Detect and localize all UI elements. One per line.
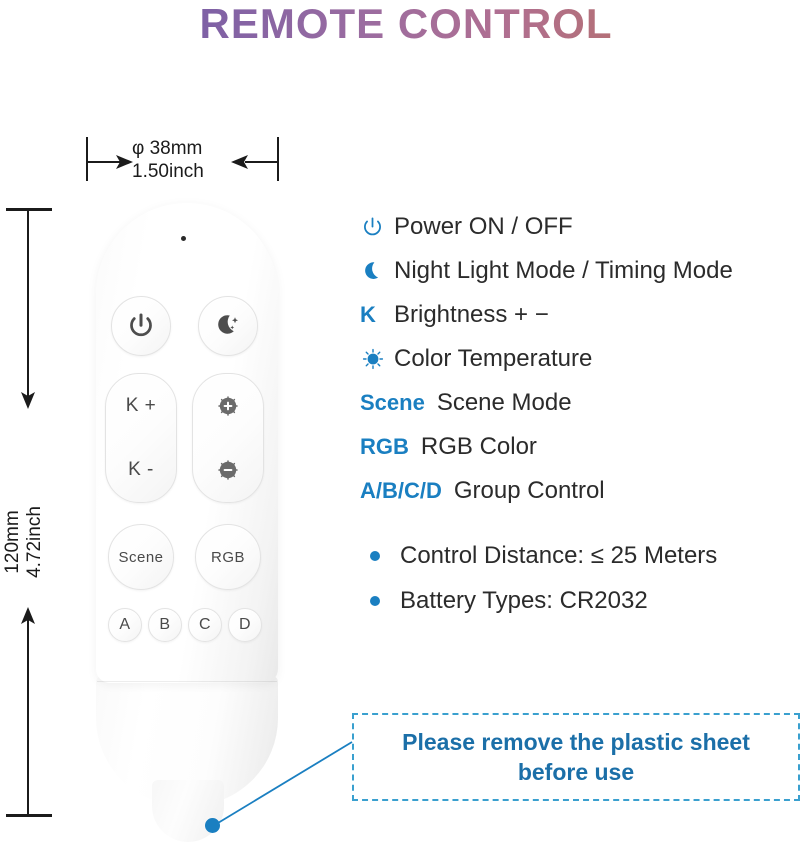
legend-label-group-control: Group Control bbox=[454, 477, 605, 505]
callout-leader-dot bbox=[205, 818, 220, 833]
remote-group-d-button[interactable]: D bbox=[228, 608, 262, 642]
remote-color-temp-plus-button[interactable] bbox=[193, 374, 263, 438]
remote-group-a-button[interactable]: A bbox=[108, 608, 142, 642]
brightness-minus-icon bbox=[208, 450, 248, 490]
legend-item-rgb: RGB RGB Color bbox=[360, 425, 812, 469]
remote-group-c-button[interactable]: C bbox=[188, 608, 222, 642]
bullet-dot-icon bbox=[370, 551, 380, 561]
legend-key-k-label: K bbox=[360, 302, 376, 328]
legend-item-power: Power ON / OFF bbox=[360, 205, 812, 249]
remote-power-button[interactable] bbox=[111, 296, 171, 356]
remote-control-device: K + K - Scene RGB A bbox=[0, 0, 330, 850]
legend-key-scene: Scene bbox=[360, 390, 425, 416]
remote-group-c-label: C bbox=[199, 616, 211, 634]
legend-item-group-control: A/B/C/D Group Control bbox=[360, 469, 812, 513]
remote-k-minus-button[interactable]: K - bbox=[106, 438, 176, 502]
remote-k-minus-label: K - bbox=[128, 459, 154, 481]
remote-scene-button[interactable]: Scene bbox=[108, 524, 174, 590]
spec-item-control-distance: Control Distance: ≤ 25 Meters bbox=[360, 533, 812, 578]
legend-item-color-temperature: Color Temperature bbox=[360, 337, 812, 381]
remote-seam-line bbox=[97, 681, 277, 682]
remote-scene-label: Scene bbox=[118, 549, 163, 566]
remote-group-b-button[interactable]: B bbox=[148, 608, 182, 642]
bullet-dot-icon bbox=[370, 596, 380, 606]
legend-key-rgb: RGB bbox=[360, 434, 409, 460]
legend-list: Power ON / OFF Night Light Mode / Timing… bbox=[360, 205, 812, 623]
legend-label-brightness: Brightness + − bbox=[394, 301, 549, 329]
legend-label-power: Power ON / OFF bbox=[394, 213, 573, 241]
legend-label-scene: Scene Mode bbox=[437, 389, 572, 417]
remote-group-a-label: A bbox=[119, 616, 130, 634]
moon-icon bbox=[360, 259, 394, 284]
remote-k-plus-button[interactable]: K + bbox=[106, 374, 176, 438]
remote-rgb-button[interactable]: RGB bbox=[195, 524, 261, 590]
remote-color-temp-minus-button[interactable] bbox=[193, 438, 263, 502]
remote-k-plus-label: K + bbox=[126, 395, 157, 417]
callout-text: Please remove the plastic sheet before u… bbox=[354, 727, 798, 787]
spec-item-battery-type: Battery Types: CR2032 bbox=[360, 578, 812, 623]
sun-icon bbox=[360, 346, 394, 372]
legend-key-group: A/B/C/D bbox=[360, 478, 442, 504]
legend-key-k: K bbox=[360, 302, 394, 328]
power-icon bbox=[126, 311, 156, 341]
led-indicator bbox=[181, 236, 186, 241]
legend-item-scene: Scene Scene Mode bbox=[360, 381, 812, 425]
spec-label-battery-type: Battery Types: CR2032 bbox=[400, 587, 648, 615]
legend-item-brightness: K Brightness + − bbox=[360, 293, 812, 337]
brightness-plus-icon bbox=[208, 386, 248, 426]
remote-group-d-label: D bbox=[239, 616, 251, 634]
remote-color-temp-pill[interactable] bbox=[192, 373, 264, 503]
remote-rgb-label: RGB bbox=[211, 549, 245, 566]
legend-label-color-temperature: Color Temperature bbox=[394, 345, 592, 373]
legend-item-night-light: Night Light Mode / Timing Mode bbox=[360, 249, 812, 293]
legend-label-night-light: Night Light Mode / Timing Mode bbox=[394, 257, 733, 285]
power-icon bbox=[360, 215, 394, 240]
moon-icon bbox=[213, 311, 243, 341]
remote-night-light-button[interactable] bbox=[198, 296, 258, 356]
spec-label-control-distance: Control Distance: ≤ 25 Meters bbox=[400, 542, 717, 570]
legend-label-rgb: RGB Color bbox=[421, 433, 537, 461]
remote-brightness-pill[interactable]: K + K - bbox=[105, 373, 177, 503]
spec-bullet-list: Control Distance: ≤ 25 Meters Battery Ty… bbox=[360, 533, 812, 623]
callout-box: Please remove the plastic sheet before u… bbox=[352, 713, 800, 801]
remote-group-b-label: B bbox=[159, 616, 170, 634]
